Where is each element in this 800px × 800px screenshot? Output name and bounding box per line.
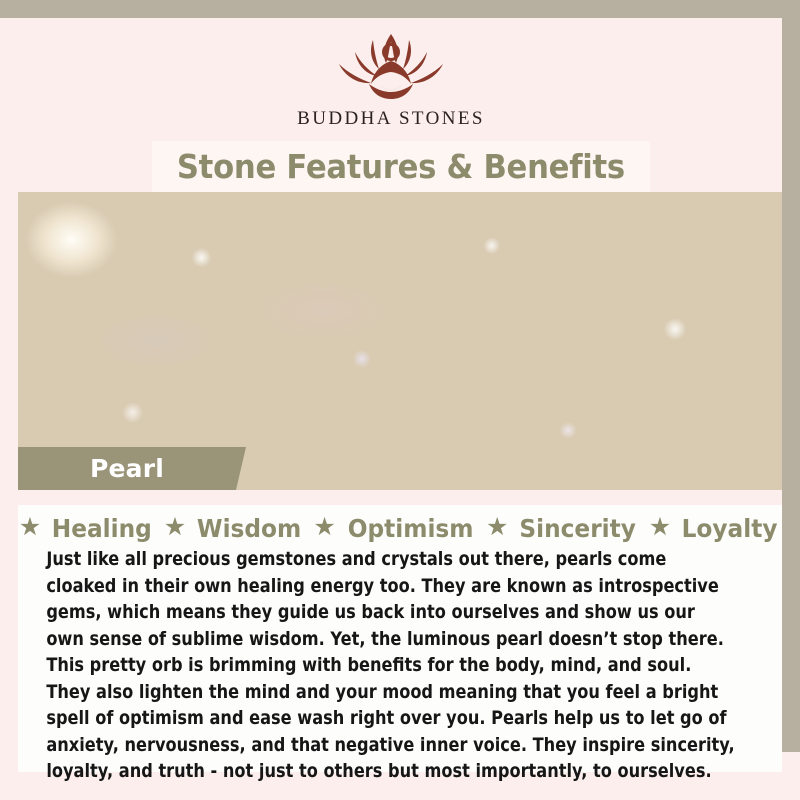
lotus-meditation-icon [329, 26, 453, 104]
stone-name-tab: Pearl [18, 447, 246, 490]
keyword-label: Loyalty [682, 514, 778, 543]
keyword-item-wisdom: ★ Wisdom [164, 514, 306, 543]
keyword-item-sincerity: ★ Sincerity [486, 514, 641, 543]
keyword-list: ★ Healing ★ Wisdom ★ Optimism ★ Sincerit… [18, 505, 782, 545]
brand-name: BUDDHA STONES [297, 108, 485, 130]
keyword-label: Wisdom [197, 514, 301, 543]
star-icon: ★ [19, 515, 41, 540]
keyword-item-optimism: ★ Optimism [313, 514, 478, 543]
keyword-item-loyalty: ★ Loyalty [649, 514, 782, 543]
pearl-photo-sheen [18, 192, 782, 490]
pearl-photo [18, 192, 782, 490]
star-icon: ★ [649, 515, 671, 540]
poster: BUDDHA STONES Stone Features & Benefits … [0, 0, 800, 800]
title-banner: Stone Features & Benefits [152, 141, 650, 192]
keyword-label: Sincerity [520, 514, 637, 543]
description-panel: ★ Healing ★ Wisdom ★ Optimism ★ Sincerit… [18, 505, 782, 772]
keyword-item-healing: ★ Healing [19, 514, 156, 543]
brand-header: BUDDHA STONES [0, 18, 782, 140]
page-title: Stone Features & Benefits [177, 147, 625, 186]
star-icon: ★ [313, 515, 335, 540]
keyword-label: Healing [52, 514, 152, 543]
description-text: Just like all precious gemstones and cry… [18, 545, 761, 786]
keyword-label: Optimism [348, 514, 474, 543]
star-icon: ★ [164, 515, 186, 540]
stone-name-label: Pearl [90, 454, 164, 483]
star-icon: ★ [486, 515, 508, 540]
